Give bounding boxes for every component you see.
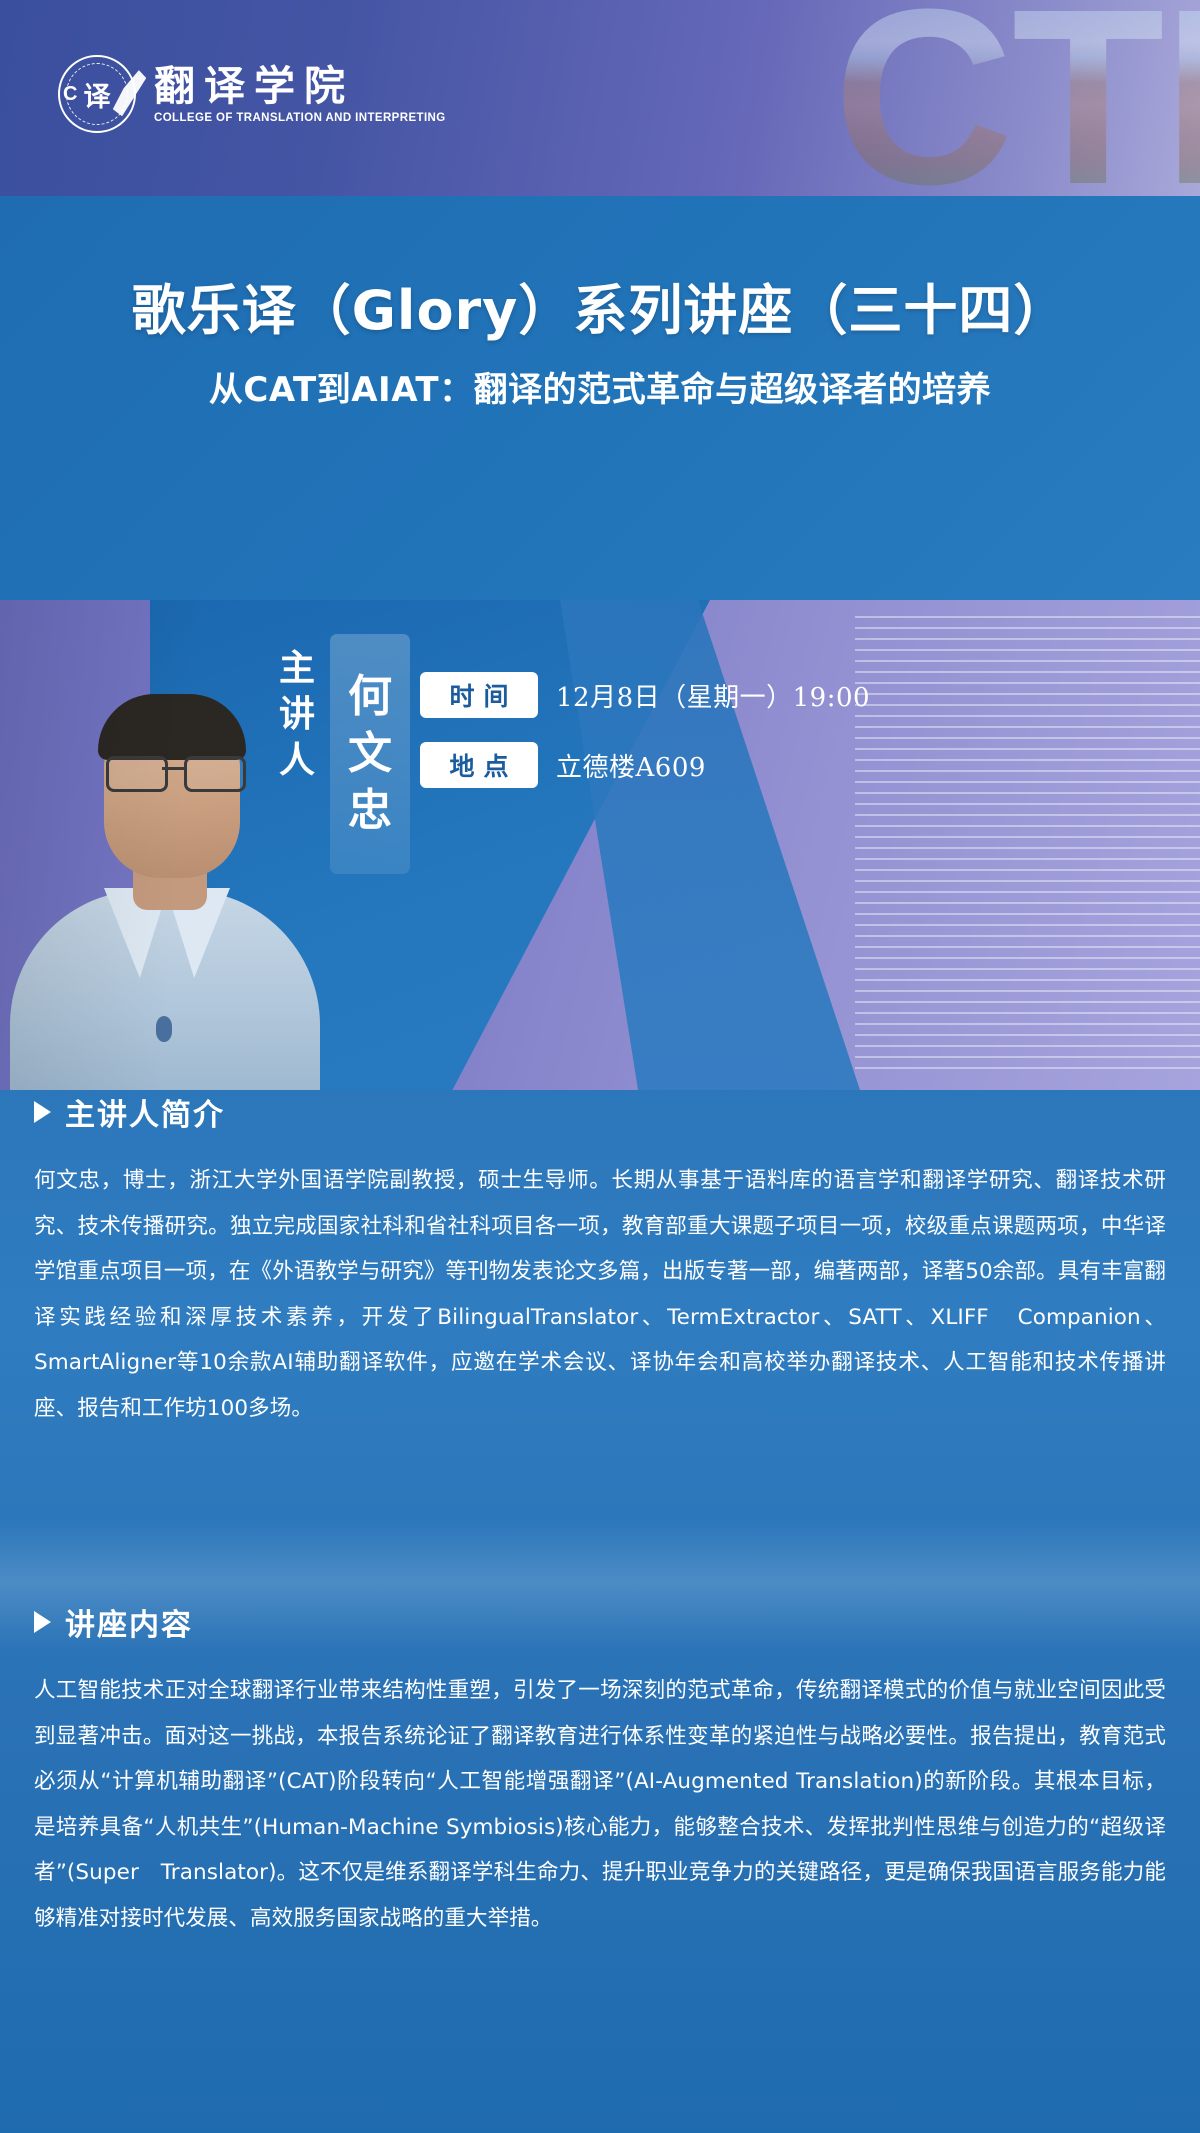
section-bio-body: 何文忠，博士，浙江大学外国语学院副教授，硕士生导师。长期从事基于语料库的语言学和…: [0, 1158, 1200, 1431]
logo-title-cn: 翻译学院: [154, 64, 446, 108]
location-label: 地点: [420, 742, 538, 788]
cti-watermark: C T I: [833, 0, 1200, 196]
logo-title-en: COLLEGE OF TRANSLATION AND INTERPRETING: [154, 112, 446, 124]
section-speaker-bio: 主讲人简介 何文忠，博士，浙江大学外国语学院副教授，硕士生导师。长期从事基于语料…: [0, 1090, 1200, 1540]
lecture-poster: C T I 译 C 翻译学院 COLLEGE OF TRANSLATION AN…: [0, 0, 1200, 2133]
cti-letter-t: T: [1012, 0, 1163, 196]
seal-icon: 译 C: [58, 55, 136, 133]
section-bio-header: 主讲人简介: [0, 1090, 1200, 1134]
section-bio-title: 主讲人简介: [65, 1090, 225, 1134]
event-info-row-time: 时间 12月8日（星期一）19:00: [420, 672, 960, 718]
event-info-list: 时间 12月8日（星期一）19:00 地点 立德楼A609: [420, 672, 960, 812]
triangle-icon: [34, 1611, 51, 1633]
seal-mark: C: [63, 83, 76, 106]
cti-letter-c: C: [833, 0, 1012, 196]
speaker-role-label: 主讲人: [276, 646, 318, 784]
event-info-row-location: 地点 立德楼A609: [420, 742, 960, 788]
logo-text: 翻译学院 COLLEGE OF TRANSLATION AND INTERPRE…: [154, 64, 446, 124]
time-label: 时间: [420, 672, 538, 718]
cti-letter-i: I: [1163, 0, 1200, 196]
college-logo: 译 C 翻译学院 COLLEGE OF TRANSLATION AND INTE…: [58, 55, 446, 133]
location-value: 立德楼A609: [556, 747, 706, 784]
triangle-icon: [34, 1101, 51, 1123]
poster-header: C T I 译 C 翻译学院 COLLEGE OF TRANSLATION AN…: [0, 0, 1200, 196]
speaker-zone: 主讲人 何文忠 时间 12月8日（星期一）19:00 地点 立德楼A609: [0, 600, 1200, 1090]
page-title: 歌乐译（Glory）系列讲座（三十四）: [0, 266, 1200, 345]
section-content-header: 讲座内容: [0, 1600, 1200, 1644]
title-zone: 歌乐译（Glory）系列讲座（三十四） 从CAT到AIAT：翻译的范式革命与超级…: [0, 196, 1200, 600]
section-content-title: 讲座内容: [65, 1600, 193, 1644]
speaker-name: 何文忠: [338, 668, 402, 840]
time-value: 12月8日（星期一）19:00: [556, 677, 870, 714]
page-subtitle: 从CAT到AIAT：翻译的范式革命与超级译者的培养: [0, 362, 1200, 411]
section-lecture-content: 讲座内容 人工智能技术正对全球翻译行业带来结构性重塑，引发了一场深刻的范式革命，…: [0, 1600, 1200, 2133]
section-content-body: 人工智能技术正对全球翻译行业带来结构性重塑，引发了一场深刻的范式革命，传统翻译模…: [0, 1668, 1200, 1941]
